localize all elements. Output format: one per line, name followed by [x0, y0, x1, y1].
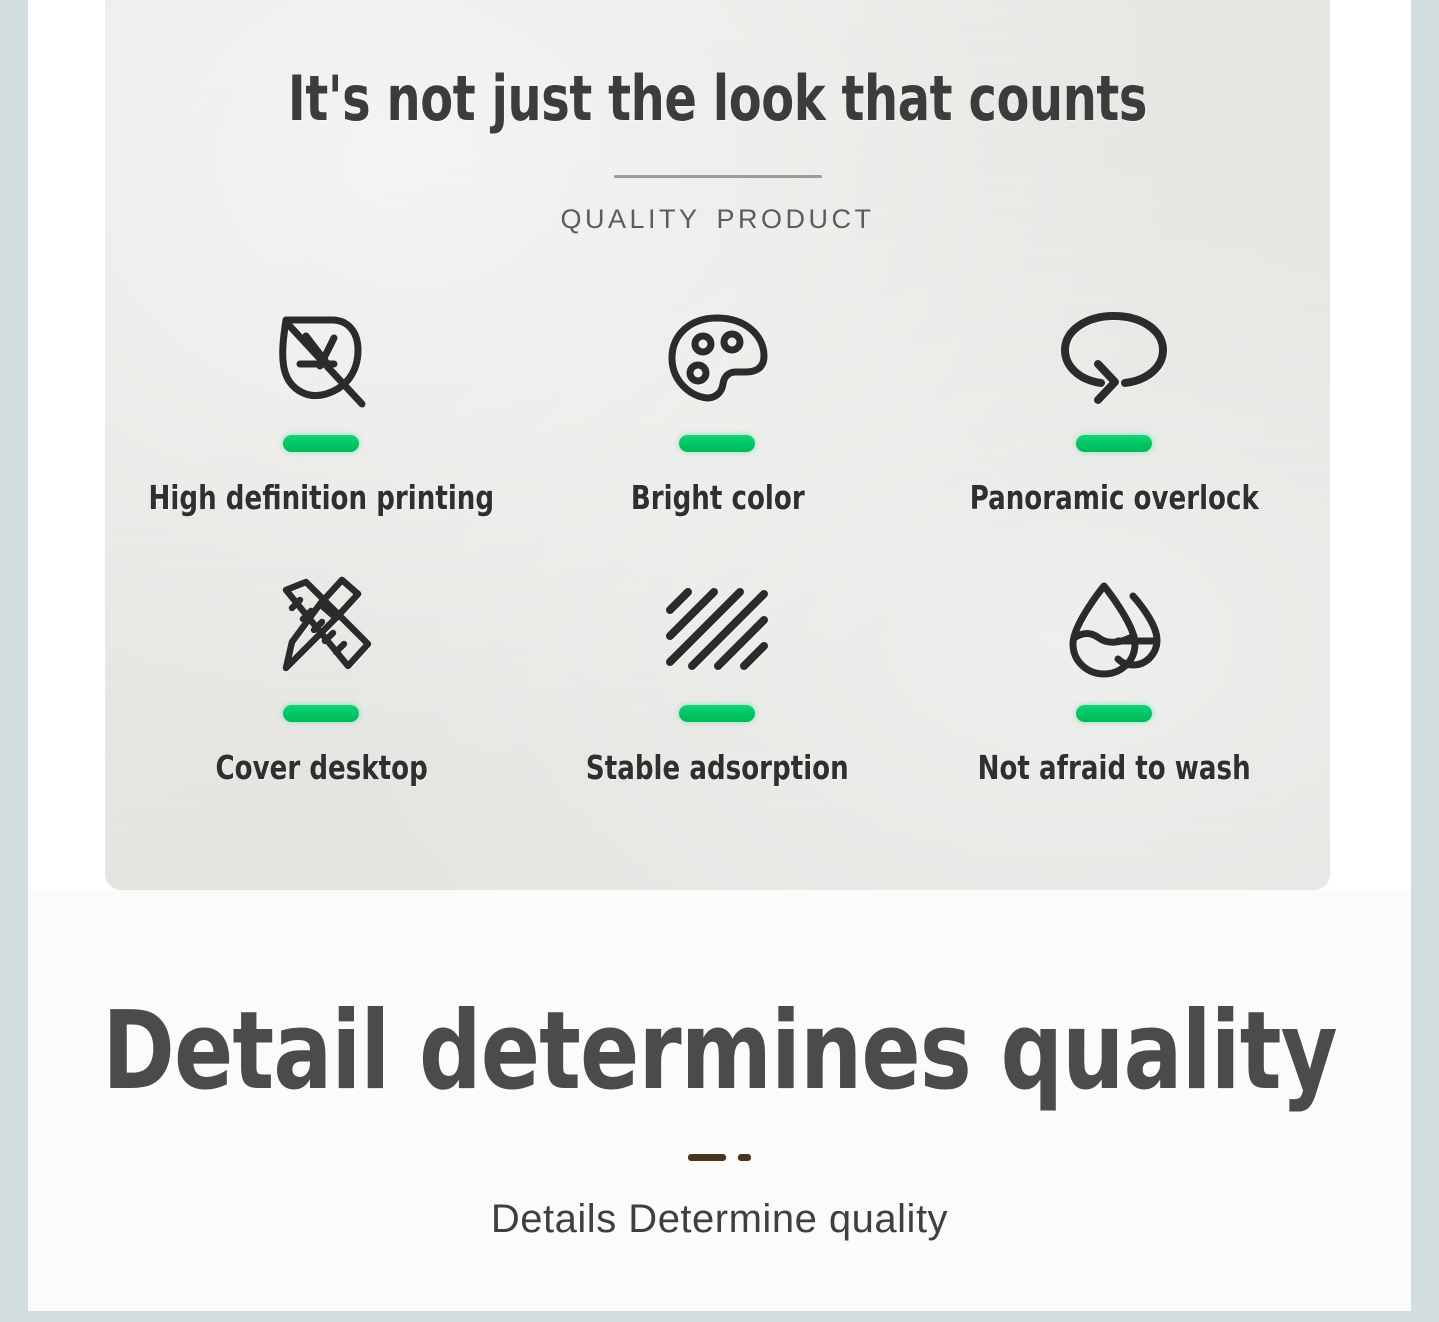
feature-item-not-afraid-to-wash: Not afraid to wash — [916, 563, 1312, 833]
bottom-band — [0, 1311, 1439, 1322]
feature-label: Cover desktop — [215, 748, 427, 787]
leaf-icon — [262, 293, 380, 425]
subtitle-word-quality: QUALITY — [560, 204, 700, 234]
accent-bar — [679, 435, 755, 452]
accent-bar — [283, 435, 359, 452]
feature-item-high-definition-printing: High definition printing — [123, 293, 519, 563]
ruler-pencil-icon — [262, 563, 380, 695]
feature-label: Stable adsorption — [586, 748, 849, 787]
quality-feature-card: It's not just the look that counts QUALI… — [105, 0, 1330, 890]
accent-bar — [283, 705, 359, 722]
feature-label: Bright color — [631, 478, 805, 517]
detail-divider — [28, 1154, 1411, 1161]
detail-section-title: Detail determines quality — [97, 890, 1342, 1106]
detail-section-subtitle: Details Determine quality — [28, 1197, 1411, 1242]
accent-bar — [679, 705, 755, 722]
loop-arrow-icon — [1051, 293, 1177, 425]
hatch-lines-icon — [658, 563, 776, 695]
divider-dash-short — [738, 1154, 751, 1161]
feature-item-cover-desktop: Cover desktop — [123, 563, 519, 833]
feature-label: Not afraid to wash — [977, 748, 1250, 787]
page-title: It's not just the look that counts — [191, 66, 1245, 131]
palette-icon — [658, 293, 776, 425]
accent-bar — [1076, 435, 1152, 452]
water-drops-icon — [1055, 563, 1173, 695]
title-divider — [614, 175, 822, 178]
divider-dash-long — [688, 1154, 726, 1161]
feature-label: Panoramic overlock — [969, 478, 1258, 517]
subtitle-word-product: PRODUCT — [717, 204, 875, 234]
subtitle: QUALITYPRODUCT — [105, 204, 1330, 235]
feature-item-stable-adsorption: Stable adsorption — [519, 563, 915, 833]
feature-item-panoramic-overlock: Panoramic overlock — [916, 293, 1312, 563]
feature-item-bright-color: Bright color — [519, 293, 915, 563]
card-header: It's not just the look that counts QUALI… — [105, 0, 1330, 235]
feature-label: High definition printing — [148, 478, 494, 517]
accent-bar — [1076, 705, 1152, 722]
feature-grid: High definition printing Bright color — [105, 293, 1330, 833]
detail-quality-section: Detail determines quality Details Determ… — [28, 890, 1411, 1311]
product-detail-page: It's not just the look that counts QUALI… — [28, 0, 1411, 1311]
